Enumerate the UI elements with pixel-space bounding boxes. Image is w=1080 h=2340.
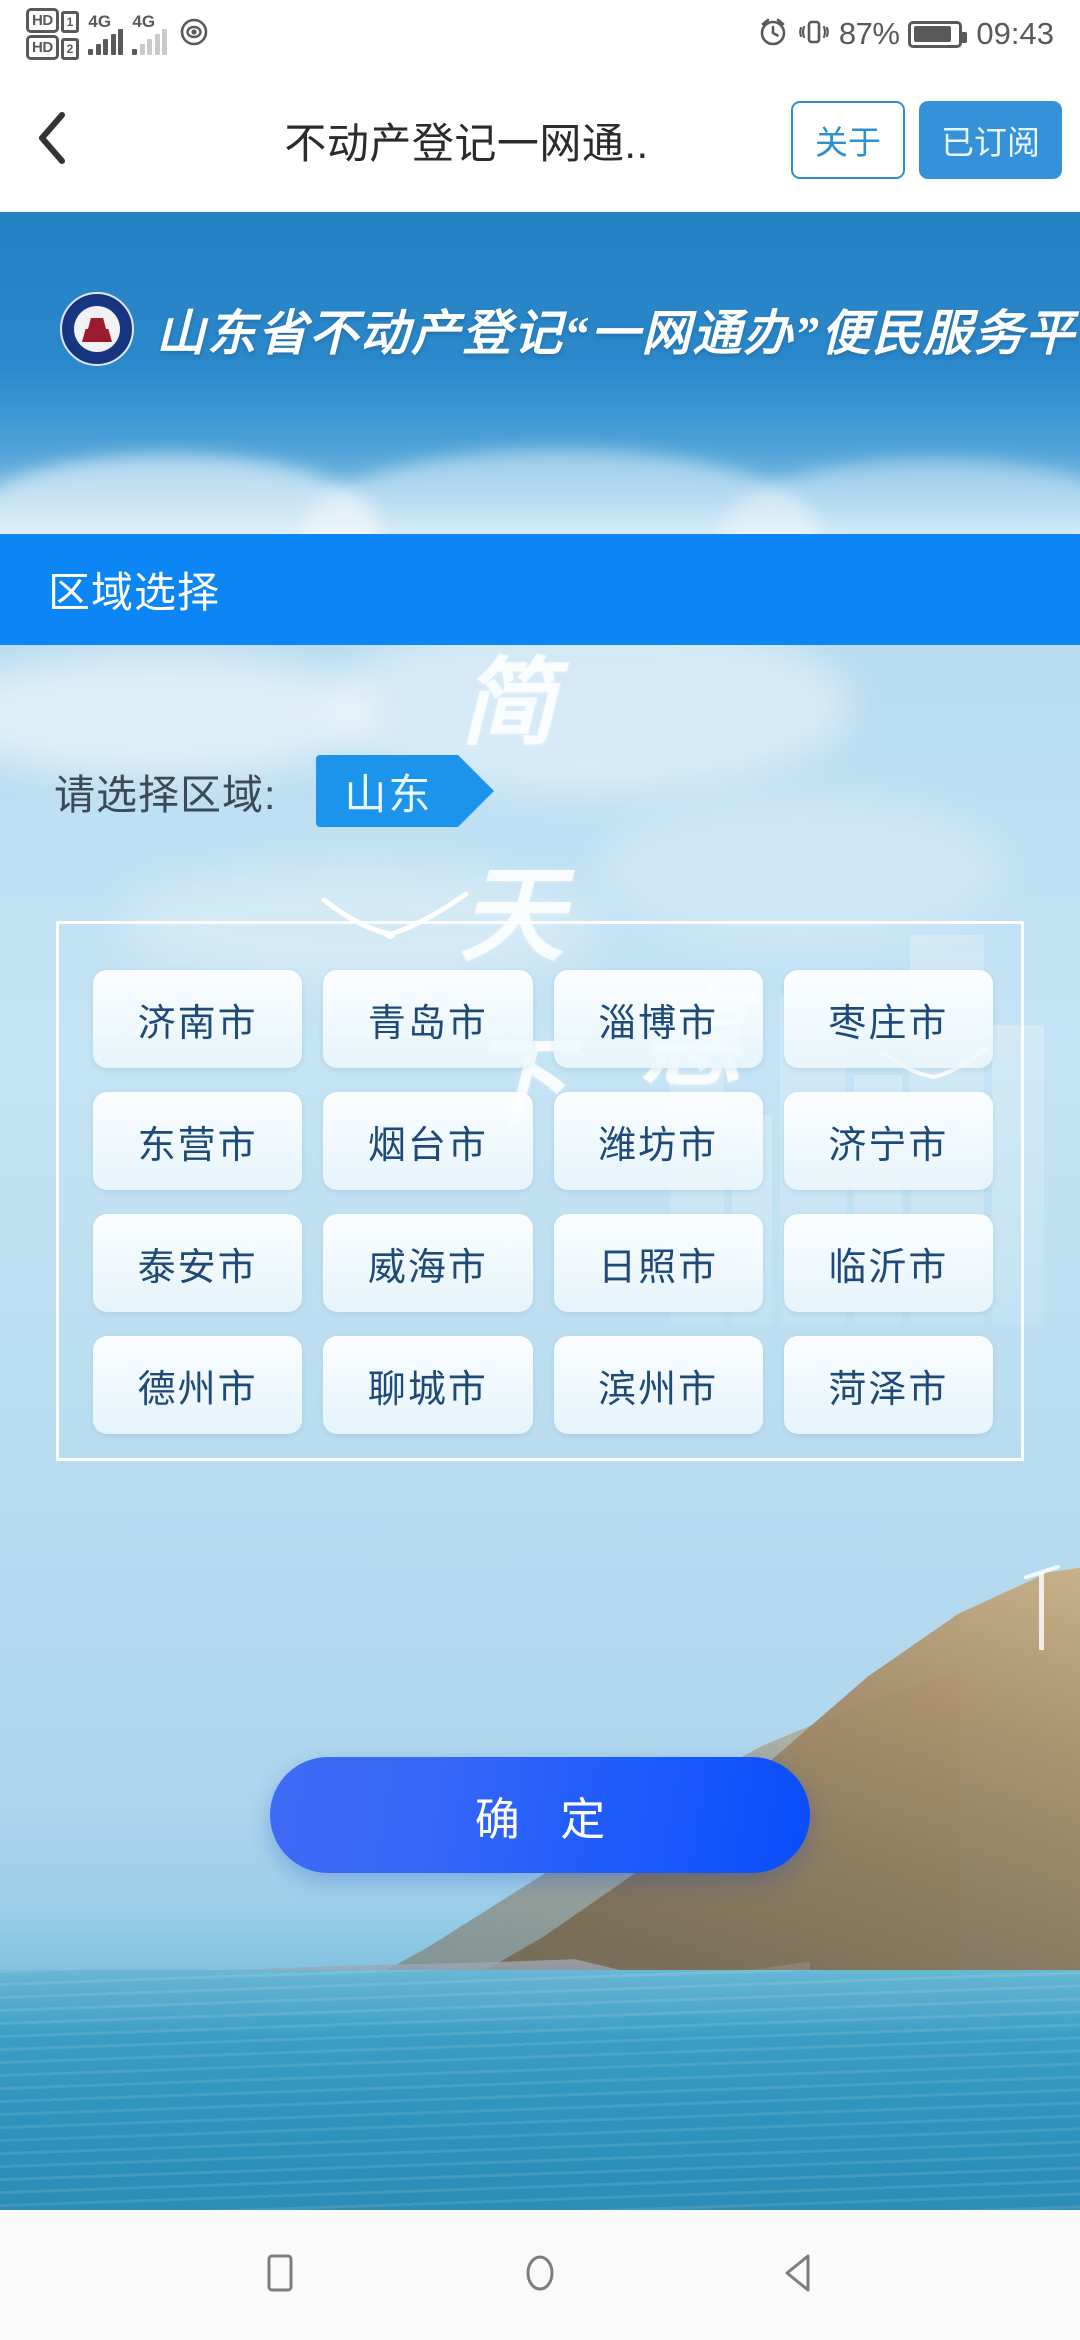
region-picker-label: 请选择区域:	[54, 761, 276, 821]
city-option-zibo[interactable]: 淄博市	[554, 970, 763, 1068]
status-bar-clock: 09:43	[976, 16, 1054, 52]
signal-bars-secondary-icon	[132, 31, 167, 55]
triangle-back-icon	[776, 2249, 824, 2302]
hd-sim1-icon: HD	[26, 8, 59, 33]
banner-content: 山东省不动产登记“一网通办”便民服务平台	[60, 292, 1080, 366]
back-nav-button[interactable]	[745, 2220, 855, 2330]
status-bar: HD 1 HD 2 4G 4G	[0, 0, 1080, 68]
province-tag-shandong[interactable]: 山东	[316, 755, 458, 827]
sim2-row: HD 2	[26, 35, 79, 60]
network-type-1: 4G	[88, 13, 111, 30]
sea	[0, 1970, 1080, 2210]
city-grid: 济南市 青岛市 淄博市 枣庄市 东营市 烟台市 潍坊市 济宁市 泰安市 威海市 …	[93, 970, 993, 1434]
city-option-dongying[interactable]: 东营市	[93, 1092, 302, 1190]
logo-inner	[74, 306, 120, 352]
subscribe-button[interactable]: 已订阅	[919, 101, 1062, 179]
city-option-yantai[interactable]: 烟台市	[323, 1092, 532, 1190]
signal-bars-icon	[88, 31, 123, 55]
about-button[interactable]: 关于	[791, 101, 905, 179]
section-header-label: 区域选择	[48, 559, 220, 620]
network-type-2: 4G	[132, 13, 155, 30]
circle-home-icon	[516, 2249, 564, 2302]
recents-button[interactable]	[225, 2220, 335, 2330]
city-option-rizhao[interactable]: 日照市	[554, 1214, 763, 1312]
platform-banner: 山东省不动产登记“一网通办”便民服务平台	[0, 212, 1080, 534]
section-header-region-select: 区域选择	[0, 534, 1080, 645]
alarm-clock-icon	[757, 16, 789, 53]
city-option-dezhou[interactable]: 德州市	[93, 1336, 302, 1434]
city-option-weihai[interactable]: 威海市	[323, 1214, 532, 1312]
city-option-binzhou[interactable]: 滨州市	[554, 1336, 763, 1434]
signal-group-1: 4G	[88, 13, 123, 55]
logo-emblem-shape	[82, 316, 112, 342]
signal-group-2: 4G	[132, 13, 167, 55]
sim2-number: 2	[61, 38, 80, 60]
wind-turbine-icon	[1039, 1572, 1044, 1650]
confirm-button[interactable]: 确 定	[270, 1757, 810, 1873]
sim1-row: HD 1	[26, 8, 79, 33]
hd-sim2-icon: HD	[26, 35, 59, 60]
app-bar: 不动产登记一网通.. 关于 已订阅	[0, 68, 1080, 212]
page-title: 不动产登记一网通..	[88, 110, 791, 171]
city-option-jinan[interactable]: 济南市	[93, 970, 302, 1068]
status-bar-left: HD 1 HD 2 4G 4G	[26, 8, 209, 60]
city-option-zaozhuang[interactable]: 枣庄市	[784, 970, 993, 1068]
city-grid-panel: 济南市 青岛市 淄博市 枣庄市 东营市 烟台市 潍坊市 济宁市 泰安市 威海市 …	[56, 921, 1024, 1461]
city-option-qingdao[interactable]: 青岛市	[323, 970, 532, 1068]
sim1-number: 1	[61, 11, 80, 33]
eye-icon	[179, 17, 209, 52]
square-recents-icon	[256, 2249, 304, 2302]
vibrate-icon	[798, 16, 830, 53]
android-navigation-bar	[0, 2210, 1080, 2340]
chevron-left-icon	[30, 109, 76, 172]
battery-percent: 87%	[839, 16, 900, 52]
city-option-linyi[interactable]: 临沂市	[784, 1214, 993, 1312]
region-picker-row: 请选择区域: 山东	[0, 745, 1080, 837]
city-option-weifang[interactable]: 潍坊市	[554, 1092, 763, 1190]
dual-sim-indicator: HD 1 HD 2	[26, 8, 79, 60]
city-option-liaocheng[interactable]: 聊城市	[323, 1336, 532, 1434]
back-button[interactable]	[18, 105, 88, 175]
city-option-heze[interactable]: 菏泽市	[784, 1336, 993, 1434]
province-tag-label: 山东	[344, 761, 432, 822]
status-bar-right: 87% 09:43	[757, 16, 1054, 53]
banner-cloud	[720, 459, 1080, 534]
battery-icon	[908, 21, 962, 48]
real-estate-registration-logo-icon	[60, 292, 134, 366]
banner-title: 山东省不动产登记“一网通办”便民服务平台	[156, 294, 1080, 365]
home-button[interactable]	[485, 2220, 595, 2330]
city-option-jining[interactable]: 济宁市	[784, 1092, 993, 1190]
city-option-taian[interactable]: 泰安市	[93, 1214, 302, 1312]
phone-screen: HD 1 HD 2 4G 4G	[0, 0, 1080, 2340]
